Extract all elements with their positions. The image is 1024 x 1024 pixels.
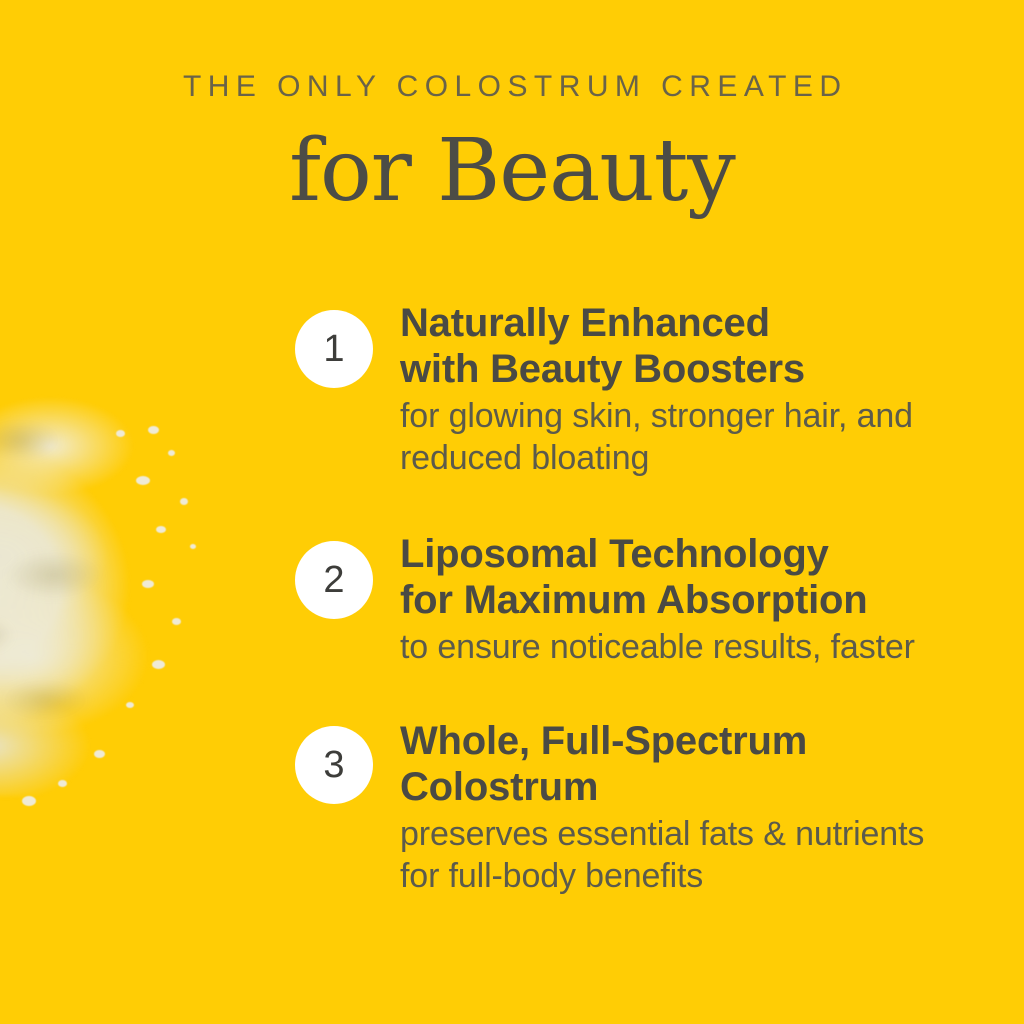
benefit-subtitle-line: to ensure noticeable results, faster (400, 626, 975, 668)
benefit-title-line: with Beauty Boosters (400, 346, 975, 392)
benefit-text-2: Liposomal Technology for Maximum Absorpt… (400, 531, 975, 668)
benefit-title-3: Whole, Full-Spectrum Colostrum (400, 718, 975, 811)
benefits-list: 1 Naturally Enhanced with Beauty Booster… (295, 300, 975, 923)
benefit-number-3: 3 (323, 746, 344, 784)
promo-graphic: THE ONLY COLOSTRUM CREATED for Beauty 1 … (0, 0, 1024, 1024)
benefit-number-badge-2: 2 (295, 541, 373, 619)
benefit-text-3: Whole, Full-Spectrum Colostrum preserves… (400, 718, 975, 897)
powder-speck (168, 450, 175, 456)
powder-speck (136, 476, 150, 485)
benefit-title-line: Colostrum (400, 764, 975, 810)
benefit-item-1: 1 Naturally Enhanced with Beauty Booster… (295, 300, 975, 479)
benefit-subtitle-line: for full-body benefits (400, 855, 975, 897)
benefit-number-badge-1: 1 (295, 310, 373, 388)
header: THE ONLY COLOSTRUM CREATED for Beauty (0, 0, 1024, 214)
benefit-subtitle-2: to ensure noticeable results, faster (400, 626, 975, 668)
powder-speck (94, 750, 105, 758)
benefit-title-line: Naturally Enhanced (400, 300, 975, 346)
benefit-item-3: 3 Whole, Full-Spectrum Colostrum preserv… (295, 718, 975, 897)
powder-speck (58, 780, 67, 787)
benefit-number-1: 1 (323, 330, 344, 368)
benefit-item-2: 2 Liposomal Technology for Maximum Absor… (295, 531, 975, 668)
benefit-text-1: Naturally Enhanced with Beauty Boosters … (400, 300, 975, 479)
eyebrow-text: THE ONLY COLOSTRUM CREATED (0, 72, 1024, 102)
benefit-title-line: for Maximum Absorption (400, 577, 975, 623)
powder-speck (190, 544, 196, 549)
powder-speck (148, 426, 159, 434)
benefit-subtitle-line: preserves essential fats & nutrients (400, 813, 975, 855)
benefit-title-line: Whole, Full-Spectrum (400, 718, 975, 764)
benefit-subtitle-line: reduced bloating (400, 437, 975, 479)
benefit-number-2: 2 (323, 561, 344, 599)
benefit-title-line: Liposomal Technology (400, 531, 975, 577)
benefit-subtitle-3: preserves essential fats & nutrients for… (400, 813, 975, 897)
benefit-subtitle-line: for glowing skin, stronger hair, and (400, 395, 975, 437)
powder-speck (172, 618, 181, 625)
benefit-number-badge-3: 3 (295, 726, 373, 804)
page-title: for Beauty (0, 128, 1024, 214)
powder-speck (180, 498, 188, 505)
powder-speck (22, 796, 36, 806)
benefit-subtitle-1: for glowing skin, stronger hair, and red… (400, 395, 975, 479)
benefit-title-2: Liposomal Technology for Maximum Absorpt… (400, 531, 975, 624)
benefit-title-1: Naturally Enhanced with Beauty Boosters (400, 300, 975, 393)
powder-speck (116, 430, 125, 437)
powder-speck (152, 660, 165, 669)
powder-mass (0, 356, 180, 796)
powder-speck (142, 580, 154, 588)
powder-speck (156, 526, 166, 533)
powder-shading (0, 370, 160, 780)
powder-speck (126, 702, 134, 708)
colostrum-powder-image (0, 330, 290, 820)
